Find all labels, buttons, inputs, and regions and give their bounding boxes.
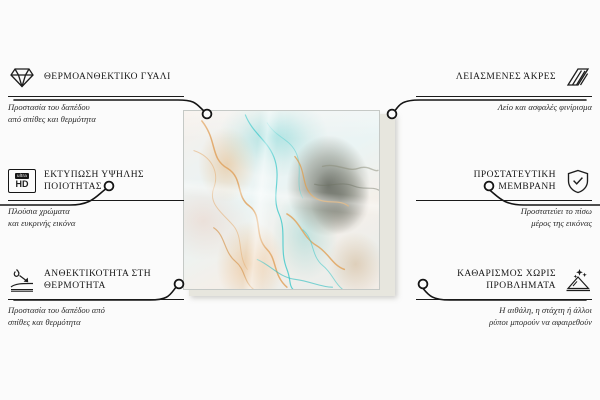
feature-desc-line-1: Προστατεύει το πίσω <box>416 206 592 218</box>
feature-description: Πλούσια χρώματα και ευκρινής εικόνα <box>8 206 184 229</box>
feature-desc-line-1: Η αιθάλη, η στάχτη ή άλλοι <box>416 305 592 317</box>
sparkle-wipe-icon <box>564 266 592 294</box>
feature-desc-line-1: Λείο και ασφαλές φινίρισμα <box>416 102 592 114</box>
feature-easy-cleaning: ΚΑΘΑΡΙΣΜΟΣ ΧΩΡΙΣ ΠΡΟΒΛΗΜΑΤΑ Η αιθάλη, η … <box>416 265 592 328</box>
feature-desc-line-2: από σπίθες και θερμότητα <box>8 114 184 126</box>
glass-panel <box>183 110 380 290</box>
diagonal-lines-icon <box>564 63 592 91</box>
feature-title: ΕΚΤΥΠΩΣΗ ΥΨΗΛΗΣ ΠΟΙΟΤΗΤΑΣ <box>44 169 184 194</box>
infographic-canvas: ΘΕΡΜΟΑΝΘΕΚΤΙΚΟ ΓΥΑΛΙ Προστασία του δαπέδ… <box>0 0 600 400</box>
feature-desc-line-2: και ευκρινής εικόνα <box>8 218 184 230</box>
feature-header: ΛΕΙΑΣΜΕΝΕΣ ΆΚΡΕΣ <box>416 62 592 92</box>
feature-divider <box>8 96 184 97</box>
feature-description: Προστασία του δαπέδου από σπίθες και θερ… <box>8 102 184 125</box>
feature-description: Προστατεύει το πίσω μέρος της εικόνας <box>416 206 592 229</box>
feature-header: ΚΑΘΑΡΙΣΜΟΣ ΧΩΡΙΣ ΠΡΟΒΛΗΜΑΤΑ <box>416 265 592 295</box>
feature-header: ultra HD ΕΚΤΥΠΩΣΗ ΥΨΗΛΗΣ ΠΟΙΟΤΗΤΑΣ <box>8 166 184 196</box>
feature-desc-line-1: Προστασία του δαπέδου <box>8 102 184 114</box>
feature-polished-edges: ΛΕΙΑΣΜΕΝΕΣ ΆΚΡΕΣ Λείο και ασφαλές φινίρι… <box>416 62 592 114</box>
ultra-hd-icon: ultra HD <box>8 167 36 195</box>
feature-description: Προστασία του δαπέδου από σπίθες και θερ… <box>8 305 184 328</box>
feature-divider <box>8 299 184 300</box>
feature-header: ΑΝΘΕΚΤΙΚΟΤΗΤΑ ΣΤΗ ΘΕΡΜΟΤΗΤΑ <box>8 265 184 295</box>
feature-divider <box>8 200 184 201</box>
feature-header: ΘΕΡΜΟΑΝΘΕΚΤΙΚΟ ΓΥΑΛΙ <box>8 62 184 92</box>
feature-heat-resistant-glass: ΘΕΡΜΟΑΝΘΕΚΤΙΚΟ ΓΥΑΛΙ Προστασία του δαπέδ… <box>8 62 184 125</box>
feature-title: ΑΝΘΕΚΤΙΚΟΤΗΤΑ ΣΤΗ ΘΕΡΜΟΤΗΤΑ <box>44 268 184 293</box>
product-image <box>183 110 395 296</box>
feature-title: ΠΡΟΣΤΑΤΕΥΤΙΚΗ ΜΕΜΒΡΑΝΗ <box>416 169 556 194</box>
flame-surface-icon <box>8 266 36 294</box>
feature-header: ΠΡΟΣΤΑΤΕΥΤΙΚΗ ΜΕΜΒΡΑΝΗ <box>416 166 592 196</box>
feature-description: Λείο και ασφαλές φινίρισμα <box>416 102 592 114</box>
ink-veins <box>184 111 379 289</box>
diamond-icon <box>8 63 36 91</box>
feature-desc-line-1: Προστασία του δαπέδου από <box>8 305 184 317</box>
feature-desc-line-2: μέρος της εικόνας <box>416 218 592 230</box>
feature-divider <box>416 299 592 300</box>
ultra-hd-large-label: HD <box>16 180 29 189</box>
feature-desc-line-1: Πλούσια χρώματα <box>8 206 184 218</box>
feature-desc-line-2: ρύποι μπορούν να αφαιρεθούν <box>416 317 592 329</box>
feature-protective-membrane: ΠΡΟΣΤΑΤΕΥΤΙΚΗ ΜΕΜΒΡΑΝΗ Προστατεύει το πί… <box>416 166 592 229</box>
feature-description: Η αιθάλη, η στάχτη ή άλλοι ρύποι μπορούν… <box>416 305 592 328</box>
feature-title: ΘΕΡΜΟΑΝΘΕΚΤΙΚΟ ΓΥΑΛΙ <box>44 71 184 84</box>
feature-heat-durability: ΑΝΘΕΚΤΙΚΟΤΗΤΑ ΣΤΗ ΘΕΡΜΟΤΗΤΑ Προστασία το… <box>8 265 184 328</box>
feature-divider <box>416 96 592 97</box>
feature-title: ΚΑΘΑΡΙΣΜΟΣ ΧΩΡΙΣ ΠΡΟΒΛΗΜΑΤΑ <box>416 268 556 293</box>
feature-desc-line-2: σπίθες και θερμότητα <box>8 317 184 329</box>
shield-check-icon <box>564 167 592 195</box>
feature-high-quality-print: ultra HD ΕΚΤΥΠΩΣΗ ΥΨΗΛΗΣ ΠΟΙΟΤΗΤΑΣ Πλούσ… <box>8 166 184 229</box>
feature-divider <box>416 200 592 201</box>
feature-title: ΛΕΙΑΣΜΕΝΕΣ ΆΚΡΕΣ <box>416 71 556 84</box>
